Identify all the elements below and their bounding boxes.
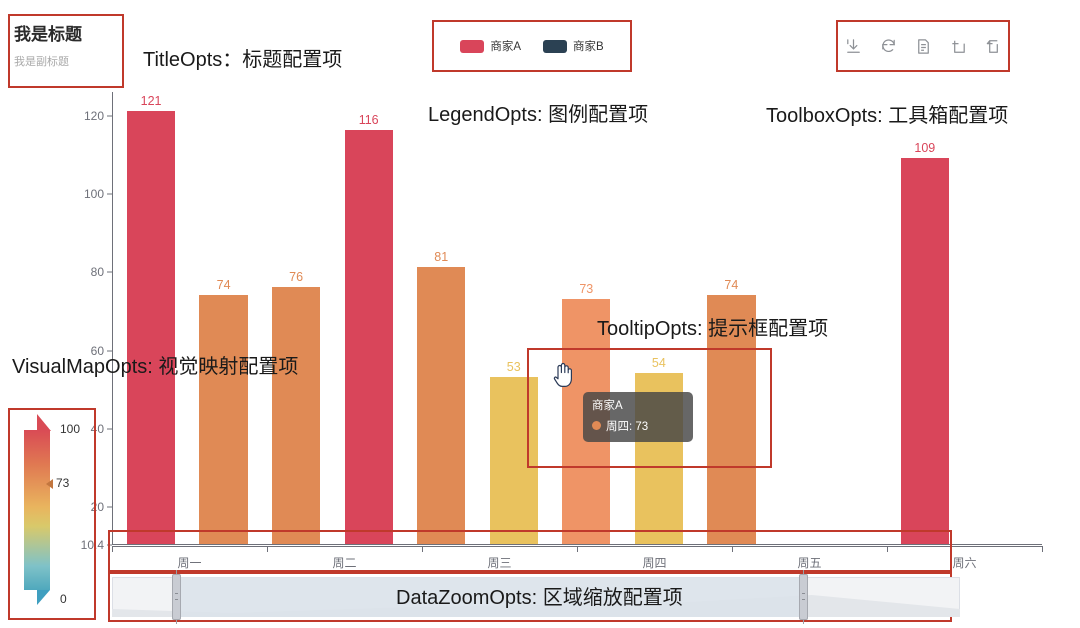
page-title: 我是标题 (8, 14, 124, 43)
zoom-area-icon[interactable] (949, 37, 968, 56)
legend-swatch-b (543, 40, 567, 53)
page-subtitle: 我是副标题 (8, 43, 124, 69)
visualmap-bottom-handle[interactable] (37, 590, 50, 605)
visualmap-current-label: 73 (56, 476, 69, 490)
chart-plot-area[interactable]: 1201008060402010.4 121747611681537354741… (112, 92, 1042, 545)
x-axis-label: 周四 (642, 554, 666, 571)
tooltip-row: 周四: 73 (592, 418, 684, 434)
bar-value-label: 116 (359, 113, 379, 127)
x-axis-tick-mark (1042, 546, 1043, 552)
bar-item[interactable]: 116 (345, 130, 393, 544)
chart-tooltip: 商家A 周四: 73 (583, 392, 693, 442)
y-axis-tick-label: 80 (91, 265, 104, 279)
annotation-datazoom-opts: DataZoomOpts: 区域缩放配置项 (396, 581, 683, 610)
bar-value-label: 74 (217, 278, 231, 292)
mouse-cursor-icon (552, 362, 574, 388)
bar-value-label: 53 (507, 360, 521, 374)
bar-value-label: 81 (434, 250, 448, 264)
tooltip-series-name: 商家A (592, 399, 684, 415)
x-axis-label: 周三 (487, 554, 511, 571)
chart-legend[interactable]: 商家A 商家B (432, 20, 632, 72)
zoom-reset-icon[interactable] (984, 37, 1003, 56)
y-axis-tick-mark (107, 272, 112, 273)
bar-item[interactable]: 109 (901, 158, 949, 544)
visualmap-value-pointer (46, 479, 53, 489)
x-axis-tick-mark (887, 546, 888, 552)
bar-item[interactable]: 53 (490, 377, 538, 544)
y-axis-tick-label: 100 (84, 187, 104, 201)
chart-toolbox[interactable] (836, 20, 1010, 72)
bar-value-label: 73 (579, 282, 593, 296)
annotation-title-opts: TitleOpts：标题配置项 (143, 43, 342, 72)
data-view-icon[interactable] (914, 37, 933, 56)
x-axis: 周一周二周三周四周五周六 (112, 546, 1042, 572)
x-axis-label: 周二 (332, 554, 356, 571)
x-axis-tick-mark (422, 546, 423, 552)
bar-value-label: 76 (289, 270, 303, 284)
bar-item[interactable]: 121 (127, 111, 175, 544)
x-axis-line (112, 544, 1042, 545)
visualmap-min-label: 0 (60, 592, 67, 606)
datazoom-handle-right[interactable] (799, 574, 808, 620)
tooltip-marker-dot (592, 421, 601, 430)
bar-value-label: 121 (141, 94, 162, 108)
refresh-icon[interactable] (879, 37, 898, 56)
bar-value-label: 109 (914, 141, 935, 155)
datazoom-handle-left[interactable] (172, 574, 181, 620)
visualmap-gradient-bar[interactable] (24, 430, 50, 590)
legend-label-b: 商家B (573, 38, 604, 54)
bar-value-label: 74 (724, 278, 738, 292)
y-axis-tick-mark (107, 507, 112, 508)
annotation-visualmap-opts: VisualMapOpts: 视觉映射配置项 (12, 350, 298, 379)
download-icon[interactable] (844, 37, 863, 56)
visualmap-top-handle[interactable] (37, 414, 51, 431)
tooltip-value-text: 周四: 73 (606, 418, 648, 434)
x-axis-label: 周一 (177, 554, 201, 571)
y-axis-tick-mark (107, 193, 112, 194)
x-axis-tick-mark (577, 546, 578, 552)
x-axis-tick-mark (267, 546, 268, 552)
legend-item-shangjia-a[interactable]: 商家A (460, 38, 521, 54)
x-axis-label: 周六 (952, 554, 976, 571)
annotation-tooltip-opts: TooltipOpts: 提示框配置项 (597, 312, 828, 341)
y-axis-line (112, 92, 113, 545)
bar-item[interactable]: 76 (272, 287, 320, 544)
y-axis-tick-mark (107, 429, 112, 430)
bar-value-label: 54 (652, 356, 666, 370)
legend-item-shangjia-b[interactable]: 商家B (543, 38, 604, 54)
y-axis-tick-label: 120 (84, 109, 104, 123)
y-axis-tick-mark (107, 115, 112, 116)
x-axis-tick-mark (732, 546, 733, 552)
x-axis-label: 周五 (797, 554, 821, 571)
legend-swatch-a (460, 40, 484, 53)
visualmap-max-label: 100 (60, 422, 80, 436)
x-axis-tick-mark (112, 546, 113, 552)
legend-label-a: 商家A (490, 38, 521, 54)
bar-item[interactable]: 81 (417, 267, 465, 544)
chart-title-group: 我是标题 我是副标题 (8, 14, 124, 88)
chart-visualmap[interactable]: 100 73 0 (8, 408, 96, 620)
bar-item[interactable]: 74 (199, 295, 247, 544)
